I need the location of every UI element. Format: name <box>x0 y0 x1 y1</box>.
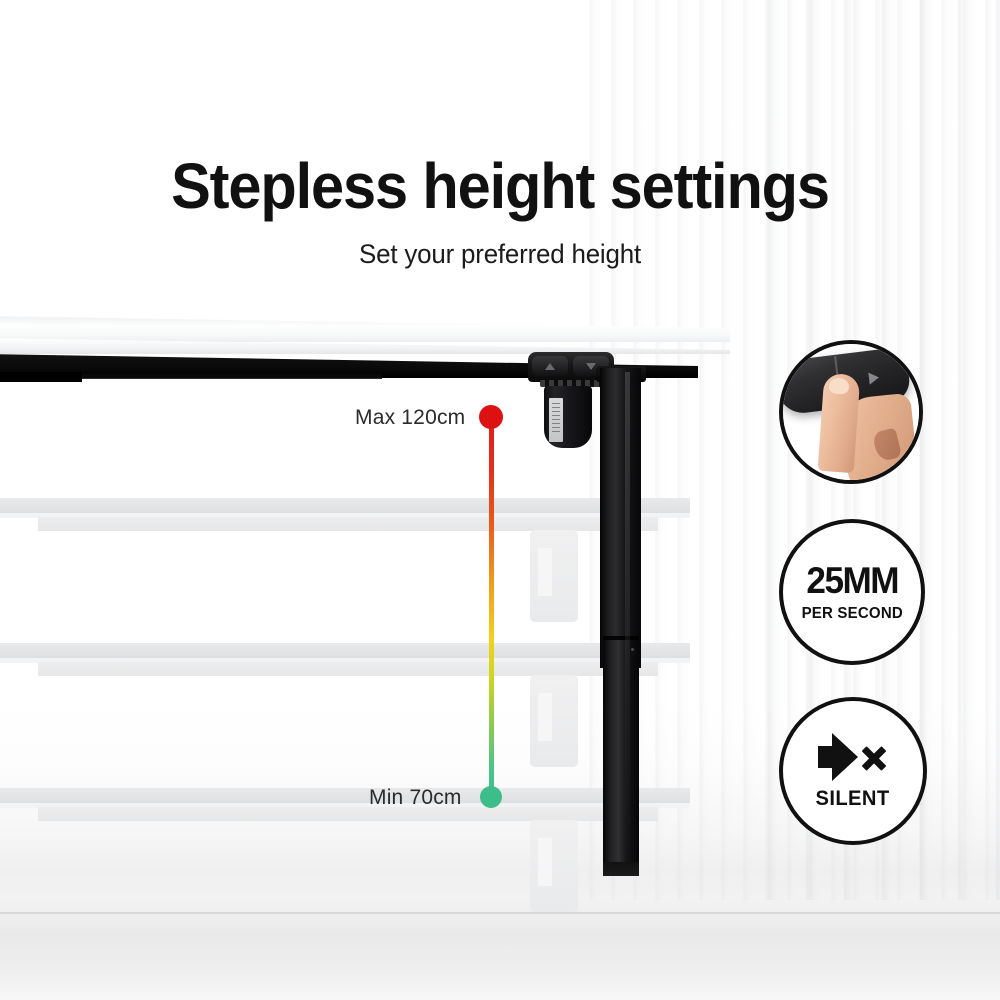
product-feature-image: Max 120cm Min 70cm Stepless height setti… <box>0 0 1000 1000</box>
speed-value: 25MM <box>806 562 898 599</box>
min-height-label: Min 70cm <box>369 786 462 810</box>
floor-wall-line <box>0 912 1000 914</box>
leg-upper-column <box>600 368 641 668</box>
controller-up-button[interactable] <box>532 356 568 376</box>
badge-lift-speed: 25MM PER SECOND <box>779 519 925 665</box>
leg-screw <box>631 648 634 651</box>
ghost-motor-label <box>538 838 552 886</box>
ghost-motor-label <box>538 548 552 596</box>
finger-press-remote-icon <box>783 344 919 480</box>
desk-underframe-left-cap <box>0 372 82 382</box>
page-subtitle: Set your preferred height <box>20 239 980 270</box>
speaker-cone <box>832 733 858 781</box>
muted-speaker-icon <box>816 733 890 781</box>
leg-foot <box>603 862 639 876</box>
leg-highlight <box>625 372 630 872</box>
motor-spec-label <box>549 398 563 442</box>
remote-arrow-icon <box>868 371 879 384</box>
ghost-desk-frame <box>38 517 658 531</box>
badge-one-touch-control <box>779 340 923 484</box>
height-range-gradient-line <box>489 418 494 800</box>
floor <box>0 900 1000 1000</box>
speed-unit: PER SECOND <box>801 605 902 623</box>
fingernail <box>828 377 849 394</box>
max-height-marker-dot <box>479 405 503 429</box>
ghost-desk-frame <box>38 662 658 676</box>
ghost-desk-frame <box>38 807 658 821</box>
min-height-marker-dot <box>480 786 502 808</box>
desk-underframe-lip <box>82 374 382 379</box>
up-arrow-icon <box>545 363 555 370</box>
down-arrow-icon <box>586 363 596 370</box>
page-title: Stepless height settings <box>35 154 965 218</box>
mute-cross-icon <box>860 743 888 771</box>
ghost-motor-label <box>538 693 552 741</box>
badge-silent-operation: SILENT <box>779 697 927 845</box>
max-height-label: Max 120cm <box>355 406 465 430</box>
silent-label: SILENT <box>816 787 890 811</box>
leg-lower-column <box>603 640 639 875</box>
